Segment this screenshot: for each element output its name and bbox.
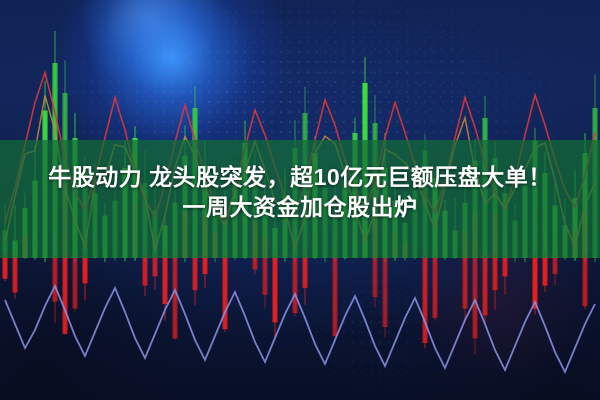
headline-text-block: 牛股动力 龙头股突发，超10亿元巨额压盘大单！ 一周大资金加仓股出炉: [0, 163, 600, 223]
headline-line-2: 一周大资金加仓股出炉: [0, 193, 600, 223]
red-candlestick-group: [3, 254, 588, 355]
periwinkle-trendline: [5, 286, 595, 372]
stock-news-banner: 牛股动力 龙头股突发，超10亿元巨额压盘大单！ 一周大资金加仓股出炉: [0, 0, 600, 400]
headline-line-1: 牛股动力 龙头股突发，超10亿元巨额压盘大单！: [0, 163, 600, 193]
